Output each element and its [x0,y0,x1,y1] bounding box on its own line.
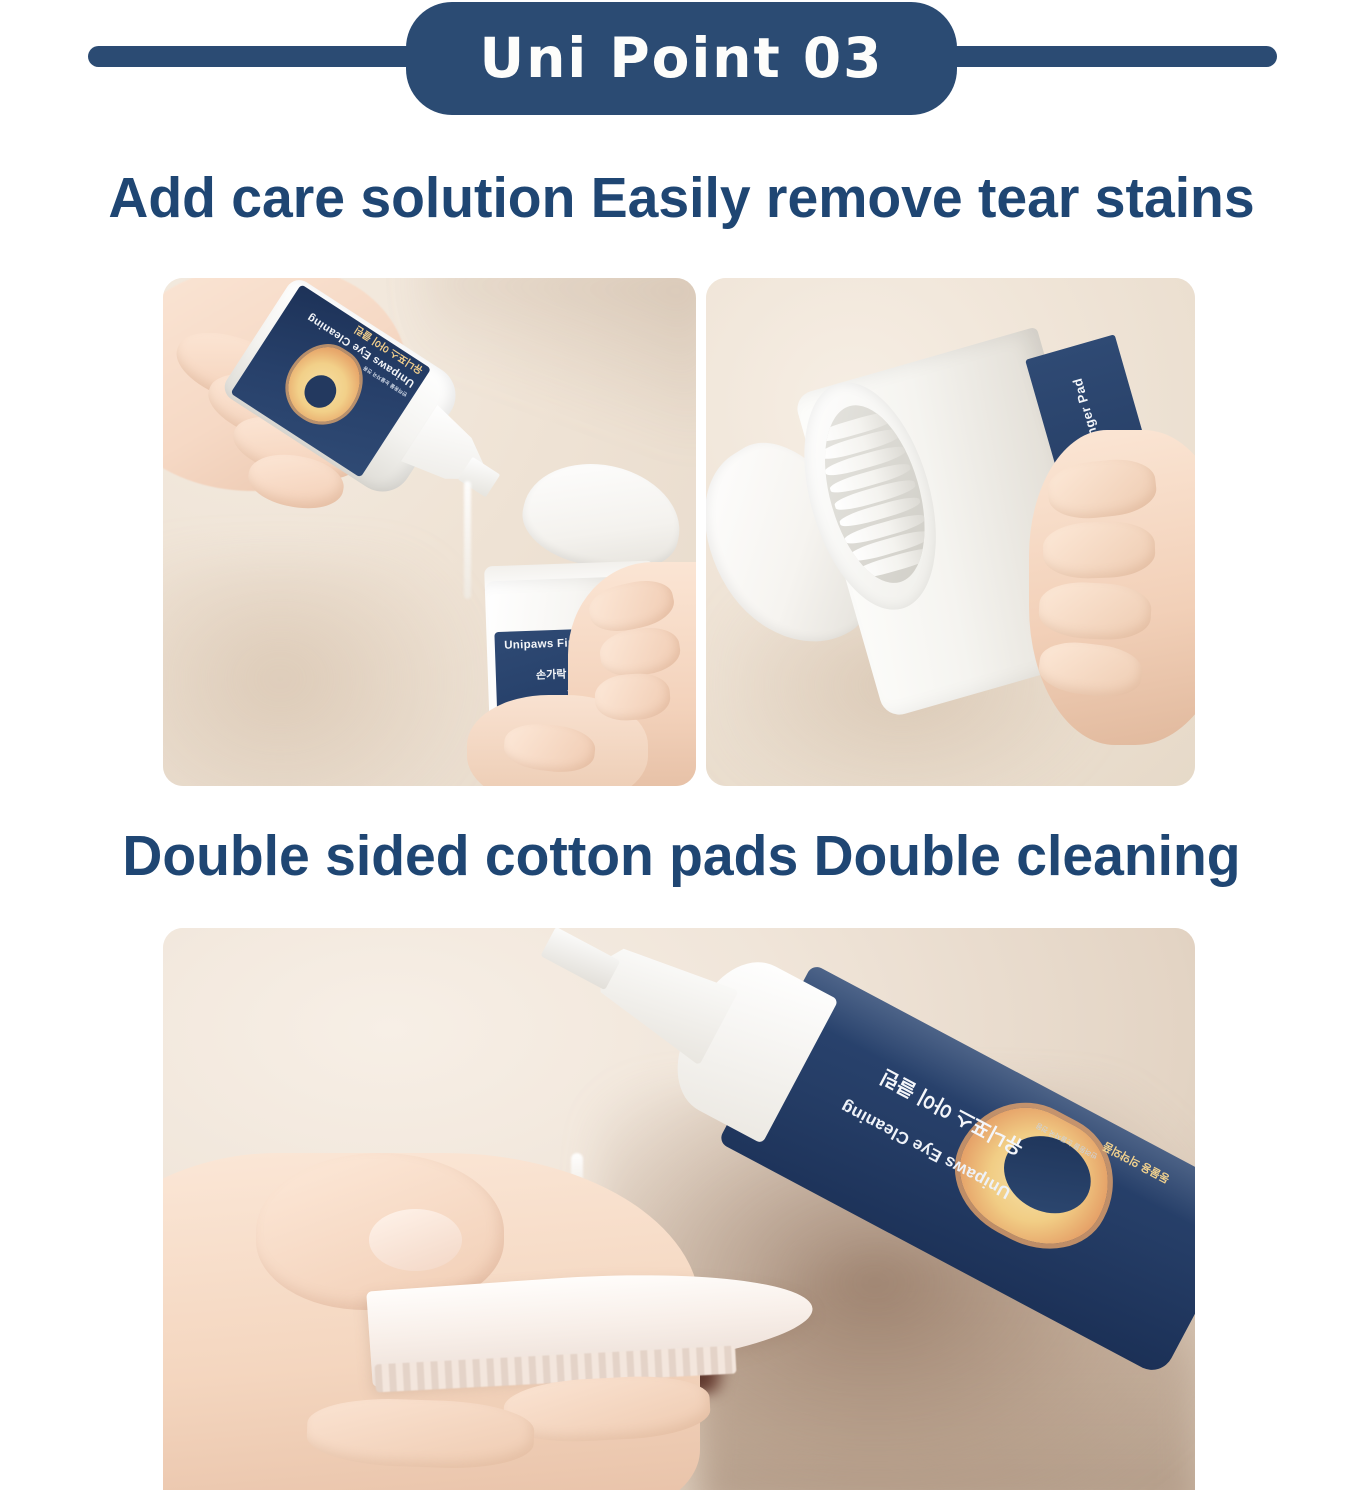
finger [1042,520,1156,580]
photo-panel-pour-into-jar: 반려동물 눈물자국 전용 Unipaws Eye Cleaning 유니포스 아… [163,278,696,786]
photo-panel-open-jar: Unipaws Finger Pad [706,278,1195,786]
solution-stream [464,481,471,599]
thumbnail [369,1209,462,1271]
marketing-image-root: Uni Point 03 Add care solution Easily re… [0,0,1363,1490]
section-2-heading: Double sided cotton pads Double cleaning [20,827,1342,887]
uni-point-badge: Uni Point 03 [406,2,957,115]
badge-header: Uni Point 03 [0,0,1363,120]
panel1-shadow [163,557,504,786]
photo-panel-drip-on-pad: 반려동물 눈물자국 전용 Unipaws Eye Cleaning 유니포스 아… [163,928,1195,1490]
uni-point-badge-label: Uni Point 03 [480,31,884,86]
section-1-heading: Add care solution Easily remove tear sta… [20,169,1342,229]
